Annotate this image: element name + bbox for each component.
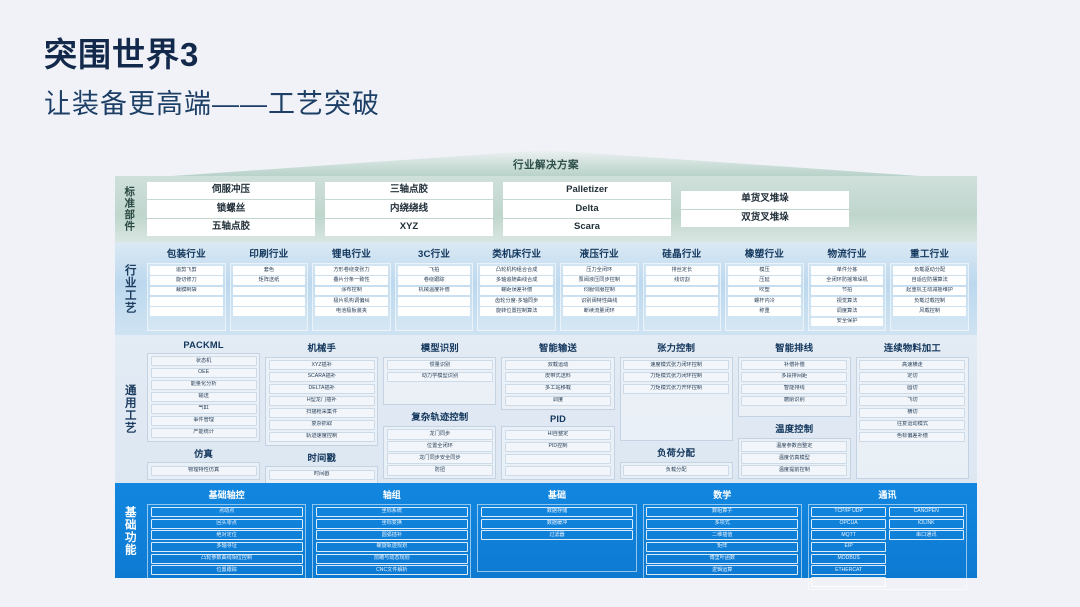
industry-column-title: 包装行业 [147, 246, 226, 260]
base-item[interactable]: 坐标变换 [316, 519, 468, 529]
base-column-title: 数学 [643, 488, 802, 501]
common-item-box: HI自整定PID控制 [501, 426, 614, 479]
common-item[interactable]: 扫描枪采集件 [269, 408, 375, 418]
common-item[interactable]: 色标偏差补偿 [859, 432, 965, 442]
base-item[interactable]: 螺旋轨迹规划 [316, 542, 468, 552]
common-columns: PACKML状态机OEE能量化分析输送气缸事件管理产能统计仿真物理特性仿真机械手… [143, 335, 977, 483]
base-item[interactable]: 数组算子 [646, 507, 798, 517]
common-item-box: XYZ插补SCARA插补DELTA插补H型龙门插补扫描枪采集件复杂抓取轨迹速度控… [265, 357, 378, 446]
base-item-subgroup: 数组算子多项式二维插值矩阵傅里叶函数逻辑运算 [646, 507, 798, 575]
common-item[interactable]: 惯量识别 [387, 360, 493, 370]
common-item[interactable]: H型龙门插补 [269, 396, 375, 406]
industry-item[interactable]: 飞拍 [398, 266, 471, 275]
common-group: 温度控制温度参数自整定温度仿真模型温度提前控制 [738, 421, 851, 479]
common-group: 时间戳时间戳 [265, 450, 378, 484]
standard-part-item[interactable]: Scara [503, 219, 671, 236]
common-item-box: 双载运动皮带式送料多工站移载调度 [501, 357, 614, 410]
industry-item[interactable]: 调度算法 [811, 307, 884, 316]
standard-part-item[interactable]: 五轴点胶 [147, 219, 315, 236]
industry-item[interactable]: 安全保护 [811, 318, 884, 327]
industry-item[interactable]: 方形卷绕变张力 [315, 266, 388, 275]
base-item[interactable]: 回头零点 [151, 519, 303, 529]
common-item[interactable]: SCARA插补 [269, 372, 375, 382]
industry-item[interactable]: 凸轮机构组合合成 [480, 266, 553, 275]
base-item[interactable]: 多项式 [646, 519, 798, 529]
industry-column-title: 锂电行业 [312, 246, 391, 260]
industry-item[interactable]: 伺服伺服控制 [563, 287, 636, 296]
standard-part-item[interactable]: 三轴点胶 [325, 182, 493, 199]
layer-tag-standard-parts: 标准部件 [115, 176, 143, 242]
industry-item[interactable]: 矩阵送纸 [233, 276, 306, 285]
standard-part-item[interactable]: Delta [503, 200, 671, 217]
common-group-title: PID [501, 414, 614, 424]
base-column-title: 通讯 [808, 488, 967, 501]
common-column: PACKML状态机OEE能量化分析输送气缸事件管理产能统计仿真物理特性仿真 [147, 340, 260, 479]
page-title: 突围世界3 [44, 36, 380, 74]
common-group-title: 仿真 [147, 446, 260, 460]
industry-item [398, 297, 471, 306]
industry-column: 印刷行业套色矩阵送纸 [230, 246, 309, 331]
layer-tag-industry-process: 行业工艺 [115, 242, 143, 335]
industry-item[interactable]: 压力全闭环 [563, 266, 636, 275]
common-item[interactable]: 往复运动模式 [859, 420, 965, 430]
standard-parts-group: 伺服冲压锁螺丝五轴点胶 [147, 182, 315, 236]
common-item-box: 时间戳 [265, 466, 378, 483]
common-item-box: 物理特性仿真 [147, 462, 260, 479]
base-item[interactable]: MQTT [811, 530, 886, 540]
base-item[interactable]: 坐标系统 [316, 507, 468, 517]
industry-column-title: 类机床行业 [477, 246, 556, 260]
industry-item[interactable]: 节拍 [811, 287, 884, 296]
common-group-title: 负荷分配 [620, 445, 733, 459]
common-item[interactable]: PID控制 [505, 442, 611, 452]
architecture-diagram: 行业解决方案 标准部件 伺服冲压锁螺丝五轴点胶三轴点胶内绕绕线XYZPallet… [115, 150, 977, 587]
common-item[interactable]: XYZ插补 [269, 360, 375, 370]
industry-item[interactable]: 旋转位置控制算法 [480, 307, 553, 316]
standard-parts-group: PalletizerDeltaScara [503, 182, 671, 236]
standard-part-item[interactable]: 锁螺丝 [147, 200, 315, 217]
industry-item-box: 飞拍卷绕跟踪机械温度补偿 [395, 263, 474, 331]
industry-item-box: 凸轮机构组合合成多轴追随曲线合成螺距误差补偿齿轮分度-多轴同步旋转位置控制算法 [477, 263, 556, 331]
common-item[interactable]: HI自整定 [505, 430, 611, 440]
standard-parts-group: 三轴点胶内绕绕线XYZ [325, 182, 493, 236]
base-item[interactable]: TCP/IP UDP [811, 507, 886, 517]
industry-item[interactable]: 极片机构调偏纠 [315, 297, 388, 306]
base-column: 基础数据存储数据缓冲过滤器 [477, 488, 636, 572]
base-column-title: 基础轴控 [147, 488, 306, 501]
common-item[interactable]: 温度提前控制 [741, 465, 847, 475]
common-group-title: 智能排线 [738, 340, 851, 354]
common-group: 机械手XYZ插补SCARA插补DELTA插补H型龙门插补扫描枪采集件复杂抓取轨迹… [265, 340, 378, 446]
base-item[interactable]: 过滤器 [481, 530, 633, 540]
common-item[interactable]: 定切 [859, 372, 965, 382]
base-item[interactable]: 前瞻与动态规划 [316, 554, 468, 564]
common-group: 智能输送双载运动皮带式送料多工站移载调度 [501, 340, 614, 410]
layer-tag-base-function: 基础功能 [115, 483, 143, 578]
common-item[interactable]: 调度 [505, 396, 611, 406]
base-column: 轴组坐标系统坐标变换圆弧插补螺旋轨迹规划前瞻与动态规划CNC文件解析 [312, 488, 471, 572]
industry-item [233, 297, 306, 306]
industry-column: 硅晶行业排丝定长线切割 [643, 246, 722, 331]
industry-column: 液压行业压力全闭环泵阀液压同步控制伺服伺服控制识别阀特性曲线断续流量闭环 [560, 246, 639, 331]
base-item-box: 数组算子多项式二维插值矩阵傅里叶函数逻辑运算 [643, 504, 802, 579]
common-item[interactable]: 状态机 [151, 356, 257, 366]
common-item[interactable]: 圆切 [859, 384, 965, 394]
common-item[interactable]: 动力学模型识别 [387, 372, 493, 382]
common-item[interactable]: 温度参数自整定 [741, 441, 847, 451]
base-item[interactable]: CNC文件解析 [316, 565, 468, 575]
industry-item[interactable]: 套色 [233, 266, 306, 275]
industry-item-box: 排丝定长线切割 [643, 263, 722, 331]
industry-column: 重工行业负载驱动分配自适应防摆算法起重机主动减摇维护负载过载控制风载控制 [890, 246, 969, 331]
page-subtitle: 让装备更高端——工艺突破 [44, 88, 380, 120]
base-item[interactable]: 位置跟踪 [151, 565, 303, 575]
common-item[interactable]: 皮带式送料 [505, 372, 611, 382]
industry-item[interactable]: 模压 [728, 266, 801, 275]
base-item[interactable]: EIP [811, 542, 886, 552]
industry-column-title: 物流行业 [808, 246, 887, 260]
common-group-title: PACKML [147, 340, 260, 350]
common-item[interactable]: 力矩模式张力闭环控制 [623, 372, 729, 382]
base-item[interactable]: ETHERCAT [811, 565, 886, 575]
solution-roof-label: 行业解决方案 [115, 157, 977, 172]
standard-part-item[interactable]: 双货叉堆垛 [681, 210, 849, 227]
common-item[interactable]: 物理特性仿真 [151, 466, 257, 476]
industry-item [646, 297, 719, 306]
layer-common-process: 通用工艺 PACKML状态机OEE能量化分析输送气缸事件管理产能统计仿真物理特性… [115, 335, 977, 483]
industry-item[interactable]: 叠片分条一致性 [315, 276, 388, 285]
common-group: 智能排线补偿补偿多段排间距智能排线磨削识别 [738, 340, 851, 417]
common-item[interactable]: 负载分配 [623, 465, 729, 475]
common-item-box: 惯量识别动力学模型识别 [383, 357, 496, 406]
base-item[interactable]: 多轴寻址 [151, 542, 303, 552]
common-item[interactable]: 复杂抓取 [269, 420, 375, 430]
base-item[interactable]: 凸轮参数曲线相位控制 [151, 554, 303, 564]
common-item-box: 温度参数自整定温度仿真模型温度提前控制 [738, 438, 851, 479]
standard-part-item[interactable]: XYZ [325, 219, 493, 236]
common-item[interactable]: 补偿补偿 [741, 360, 847, 370]
base-item[interactable]: 矩阵 [646, 542, 798, 552]
common-group: PACKML状态机OEE能量化分析输送气缸事件管理产能统计 [147, 340, 260, 442]
base-item-subgroup: 坐标系统坐标变换圆弧插补螺旋轨迹规划前瞻与动态规划CNC文件解析 [316, 507, 468, 575]
slide-root: 突围世界3 让装备更高端——工艺突破 行业解决方案 标准部件 伺服冲压锁螺丝五轴… [0, 0, 1080, 607]
industry-item [646, 307, 719, 316]
base-item-subgroup: TCP/IP UDPOPCUAMQTTEIPMODBUSETHERCATCAN [811, 507, 886, 587]
common-group-title: 张力控制 [620, 340, 733, 354]
common-item[interactable]: 多段排间距 [741, 372, 847, 382]
industry-item[interactable]: 负载驱动分配 [893, 266, 966, 275]
common-group: 负荷分配负载分配 [620, 445, 733, 479]
industry-item[interactable]: 称重 [728, 307, 801, 316]
industry-item[interactable]: 螺杆内冷 [728, 297, 801, 306]
industry-item-box: 压力全闭环泵阀液压同步控制伺服伺服控制识别阀特性曲线断续流量闭环 [560, 263, 639, 331]
industry-item[interactable]: 泵阀液压同步控制 [563, 276, 636, 285]
industry-item[interactable]: 涂布控制 [315, 287, 388, 296]
common-item [505, 466, 611, 476]
common-group-title: 智能输送 [501, 340, 614, 354]
industry-item [646, 287, 719, 296]
layer-industry-process: 行业工艺 包装行业追剪飞剪旋切修刀裁膜制袋 印刷行业套色矩阵送纸 锂电行业方形卷… [115, 242, 977, 335]
industry-item[interactable]: 机械温度补偿 [398, 287, 471, 296]
title-block: 突围世界3 让装备更高端——工艺突破 [44, 36, 380, 120]
base-column-title: 轴组 [312, 488, 471, 501]
industry-column-title: 硅晶行业 [643, 246, 722, 260]
industry-item-box: 单件分拣全闭环防摇堆垛机节拍视觉算法调度算法安全保护 [808, 263, 887, 331]
base-item-subgroup: CANOPENIOLINK串口通讯 [889, 507, 964, 587]
base-item[interactable]: 点动点 [151, 507, 303, 517]
base-column: 通讯TCP/IP UDPOPCUAMQTTEIPMODBUSETHERCATCA… [808, 488, 967, 572]
standard-part-item[interactable]: 伺服冲压 [147, 182, 315, 199]
industry-column: 包装行业追剪飞剪旋切修刀裁膜制袋 [147, 246, 226, 331]
common-group: 仿真物理特性仿真 [147, 446, 260, 480]
industry-item [150, 307, 223, 316]
common-group-title: 机械手 [265, 340, 378, 354]
common-item[interactable]: 多工站移载 [505, 384, 611, 394]
common-group-title: 模型识别 [383, 340, 496, 354]
common-item[interactable]: 温度仿真模型 [741, 453, 847, 463]
base-item[interactable]: 圆弧插补 [316, 530, 468, 540]
industry-column-title: 3C行业 [395, 246, 474, 260]
common-group: 模型识别惯量识别动力学模型识别 [383, 340, 496, 405]
industry-item[interactable]: 吹塑 [728, 287, 801, 296]
common-group-title: 温度控制 [738, 421, 851, 435]
industry-column-title: 橡塑行业 [725, 246, 804, 260]
common-column: 连续物料加工高速横走定切圆切飞切横切往复运动模式色标偏差补偿 [856, 340, 969, 479]
industry-item[interactable]: 识别阀特性曲线 [563, 297, 636, 306]
roof-label-wrap: 行业解决方案 [115, 162, 977, 176]
industry-item[interactable]: 电池极板装夹 [315, 307, 388, 316]
common-group: 连续物料加工高速横走定切圆切飞切横切往复运动模式色标偏差补偿 [856, 340, 969, 479]
standard-part-item[interactable]: 内绕绕线 [325, 200, 493, 217]
industry-item[interactable]: 起重机主动减摇维护 [893, 287, 966, 296]
base-item[interactable]: OPCUA [811, 519, 886, 529]
layer-base-function: 基础功能 基础轴控点动点回头零点绝对定位多轴寻址凸轮参数曲线相位控制位置跟踪轴组… [115, 483, 977, 578]
industry-column: 类机床行业凸轮机构组合合成多轴追随曲线合成螺距误差补偿齿轮分度-多轴同步旋转位置… [477, 246, 556, 331]
common-item-box: 负载分配 [620, 462, 733, 479]
industry-item [233, 287, 306, 296]
industry-item[interactable]: 风载控制 [893, 307, 966, 316]
base-item[interactable]: 数据缓冲 [481, 519, 633, 529]
industry-item [150, 297, 223, 306]
common-group-title: 时间戳 [265, 450, 378, 464]
industry-item[interactable]: 自适应防摆算法 [893, 276, 966, 285]
common-item[interactable]: 飞切 [859, 396, 965, 406]
standard-part-item[interactable]: Palletizer [503, 182, 671, 199]
base-item-subgroup: 数据存储数据缓冲过滤器 [481, 507, 633, 569]
base-item[interactable]: 傅里叶函数 [646, 554, 798, 564]
base-item[interactable]: IOLINK [889, 519, 964, 529]
industry-columns: 包装行业追剪飞剪旋切修刀裁膜制袋 印刷行业套色矩阵送纸 锂电行业方形卷绕变张力叠… [143, 242, 977, 335]
industry-item[interactable]: 视觉算法 [811, 297, 884, 306]
common-item[interactable]: OEE [151, 368, 257, 378]
common-column: 模型识别惯量识别动力学模型识别复杂轨迹控制龙门同步位置全闭环龙门同步安全同步防扭 [383, 340, 496, 479]
industry-item[interactable]: 齿轮分度-多轴同步 [480, 297, 553, 306]
base-item-box: 数据存储数据缓冲过滤器 [477, 504, 636, 573]
common-item[interactable]: 位置全闭环 [387, 441, 493, 451]
common-item[interactable]: 气缸 [151, 404, 257, 414]
industry-column: 物流行业单件分拣全闭环防摇堆垛机节拍视觉算法调度算法安全保护 [808, 246, 887, 331]
base-item[interactable]: 串口通讯 [889, 530, 964, 540]
industry-item-box: 负载驱动分配自适应防摆算法起重机主动减摇维护负载过载控制风载控制 [890, 263, 969, 331]
industry-item[interactable]: 旋切修刀 [150, 276, 223, 285]
industry-item[interactable]: 排丝定长 [646, 266, 719, 275]
common-item-box: 补偿补偿多段排间距智能排线磨削识别 [738, 357, 851, 418]
industry-column-title: 液压行业 [560, 246, 639, 260]
industry-item-box: 追剪飞剪旋切修刀裁膜制袋 [147, 263, 226, 331]
industry-item[interactable]: 压延 [728, 276, 801, 285]
base-item[interactable]: 数据存储 [481, 507, 633, 517]
base-item[interactable]: 逻辑运算 [646, 565, 798, 575]
common-item[interactable]: 高速横走 [859, 360, 965, 370]
common-column: 张力控制速度模式张力闭环控制力矩模式张力闭环控制力矩模式张力开环控制负荷分配负载… [620, 340, 733, 479]
base-columns: 基础轴控点动点回头零点绝对定位多轴寻址凸轮参数曲线相位控制位置跟踪轴组坐标系统坐… [143, 483, 977, 578]
common-column: 机械手XYZ插补SCARA插补DELTA插补H型龙门插补扫描枪采集件复杂抓取轨迹… [265, 340, 378, 479]
industry-item[interactable]: 追剪飞剪 [150, 266, 223, 275]
base-item-box: 坐标系统坐标变换圆弧插补螺旋轨迹规划前瞻与动态规划CNC文件解析 [312, 504, 471, 579]
common-item[interactable]: 龙门同步安全同步 [387, 453, 493, 463]
industry-item[interactable]: 全闭环防摇堆垛机 [811, 276, 884, 285]
base-column: 基础轴控点动点回头零点绝对定位多轴寻址凸轮参数曲线相位控制位置跟踪 [147, 488, 306, 572]
industry-column: 锂电行业方形卷绕变张力叠片分条一致性涂布控制极片机构调偏纠电池极板装夹 [312, 246, 391, 331]
common-group-title: 连续物料加工 [856, 340, 969, 354]
common-item[interactable]: 能量化分析 [151, 380, 257, 390]
base-item-box: 点动点回头零点绝对定位多轴寻址凸轮参数曲线相位控制位置跟踪 [147, 504, 306, 579]
common-item[interactable]: 轨迹速度控制 [269, 432, 375, 442]
base-item-subgroup: 点动点回头零点绝对定位多轴寻址凸轮参数曲线相位控制位置跟踪 [151, 507, 303, 575]
common-item[interactable]: 防扭 [387, 465, 493, 475]
industry-item-box: 方形卷绕变张力叠片分条一致性涂布控制极片机构调偏纠电池极板装夹 [312, 263, 391, 331]
industry-column-title: 重工行业 [890, 246, 969, 260]
industry-item [398, 307, 471, 316]
industry-column: 3C行业飞拍卷绕跟踪机械温度补偿 [395, 246, 474, 331]
common-item[interactable]: 时间戳 [269, 470, 375, 480]
base-item[interactable]: CAN [811, 577, 886, 587]
layer-tag-common-process: 通用工艺 [115, 335, 143, 483]
industry-column-title: 印刷行业 [230, 246, 309, 260]
base-item-box: TCP/IP UDPOPCUAMQTTEIPMODBUSETHERCATCANC… [808, 504, 967, 591]
common-group: 张力控制速度模式张力闭环控制力矩模式张力闭环控制力矩模式张力开环控制 [620, 340, 733, 441]
industry-item[interactable]: 螺距误差补偿 [480, 287, 553, 296]
standard-part-item[interactable]: 单货叉堆垛 [681, 191, 849, 208]
industry-item[interactable]: 单件分拣 [811, 266, 884, 275]
common-item [505, 454, 611, 464]
common-item[interactable]: 横切 [859, 408, 965, 418]
common-item[interactable]: 力矩模式张力开环控制 [623, 384, 729, 394]
base-item[interactable]: CANOPEN [889, 507, 964, 517]
common-item[interactable]: 双载运动 [505, 360, 611, 370]
common-column: 智能输送双载运动皮带式送料多工站移载调度PIDHI自整定PID控制 [501, 340, 614, 479]
common-item[interactable]: 智能排线 [741, 384, 847, 394]
common-group: PIDHI自整定PID控制 [501, 414, 614, 480]
industry-item [233, 307, 306, 316]
base-item[interactable]: MODBUS [811, 554, 886, 564]
industry-item-box: 模压压延吹塑螺杆内冷称重 [725, 263, 804, 331]
common-column: 智能排线补偿补偿多段排间距智能排线磨削识别温度控制温度参数自整定温度仿真模型温度… [738, 340, 851, 479]
industry-item[interactable]: 裁膜制袋 [150, 287, 223, 296]
common-item-box: 龙门同步位置全闭环龙门同步安全同步防扭 [383, 426, 496, 479]
common-item-box: 状态机OEE能量化分析输送气缸事件管理产能统计 [147, 353, 260, 442]
layer-standard-parts: 标准部件 伺服冲压锁螺丝五轴点胶三轴点胶内绕绕线XYZPalletizerDel… [115, 176, 977, 242]
industry-item-box: 套色矩阵送纸 [230, 263, 309, 331]
common-group: 复杂轨迹控制龙门同步位置全闭环龙门同步安全同步防扭 [383, 409, 496, 479]
industry-item[interactable]: 线切割 [646, 276, 719, 285]
common-item-box: 高速横走定切圆切飞切横切往复运动模式色标偏差补偿 [856, 357, 969, 480]
industry-item[interactable]: 负载过载控制 [893, 297, 966, 306]
industry-column: 橡塑行业模压压延吹塑螺杆内冷称重 [725, 246, 804, 331]
base-item[interactable]: 二维插值 [646, 530, 798, 540]
base-item[interactable]: 绝对定位 [151, 530, 303, 540]
standard-parts-group: 单货叉堆垛双货叉堆垛 [681, 191, 849, 227]
common-item[interactable]: 输送 [151, 392, 257, 402]
base-column: 数学数组算子多项式二维插值矩阵傅里叶函数逻辑运算 [643, 488, 802, 572]
standard-parts-columns: 伺服冲压锁螺丝五轴点胶三轴点胶内绕绕线XYZPalletizerDeltaSca… [143, 176, 977, 242]
common-item[interactable]: 磨削识别 [741, 396, 847, 406]
industry-item[interactable]: 多轴追随曲线合成 [480, 276, 553, 285]
common-item[interactable]: 事件管理 [151, 416, 257, 426]
industry-item[interactable]: 卷绕跟踪 [398, 276, 471, 285]
common-group-title: 复杂轨迹控制 [383, 409, 496, 423]
common-item-box: 速度模式张力闭环控制力矩模式张力闭环控制力矩模式张力开环控制 [620, 357, 733, 442]
common-item[interactable]: 速度模式张力闭环控制 [623, 360, 729, 370]
common-item[interactable]: DELTA插补 [269, 384, 375, 394]
base-column-title: 基础 [477, 488, 636, 501]
common-item[interactable]: 龙门同步 [387, 429, 493, 439]
common-item[interactable]: 产能统计 [151, 428, 257, 438]
industry-item[interactable]: 断续流量闭环 [563, 307, 636, 316]
